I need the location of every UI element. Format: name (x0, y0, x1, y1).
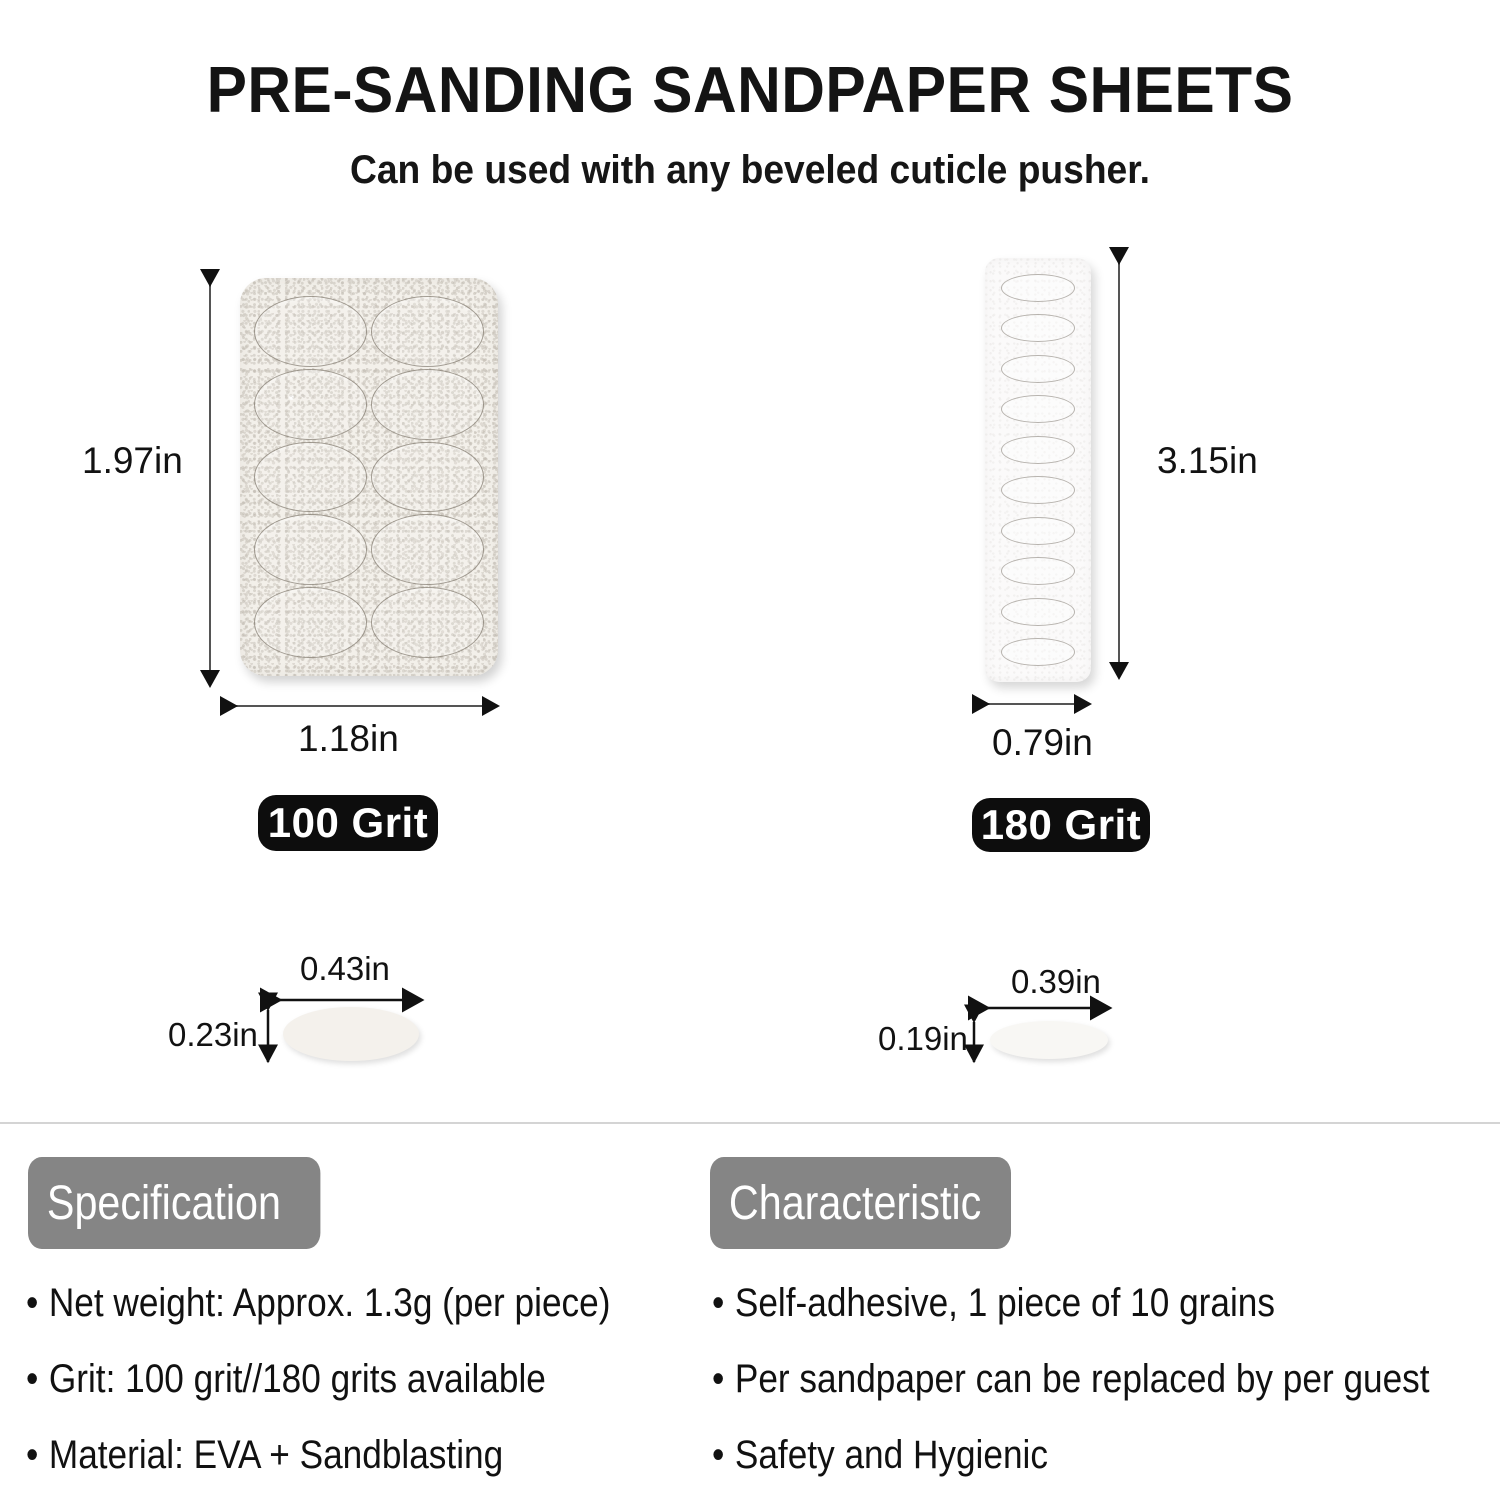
bullet-icon: • (26, 1359, 49, 1399)
list-item: •Grit: 100 grit//180 grits available (26, 1359, 624, 1399)
oval-cutout (1001, 355, 1075, 383)
detail-height-label-180: 0.19in (878, 1020, 968, 1058)
single-oval-detail-180 (990, 1021, 1108, 1059)
list-item-text: Self-adhesive, 1 piece of 10 grains (735, 1281, 1275, 1325)
detail-width-label-100: 0.43in (300, 950, 390, 988)
page-title: PRE-SANDING SANDPAPER SHEETS (53, 52, 1448, 127)
section-divider (0, 1122, 1500, 1124)
oval-grid-180-grit (985, 258, 1091, 682)
oval-cutout (371, 442, 484, 513)
list-item: •Net weight: Approx. 1.3g (per piece) (26, 1283, 624, 1323)
oval-cutout (1001, 314, 1075, 342)
dimension-label-width-100: 1.18in (298, 718, 399, 760)
list-item-text: Safety and Hygienic (735, 1433, 1048, 1477)
bullet-icon: • (712, 1283, 735, 1323)
single-oval-detail-100 (283, 1007, 419, 1061)
list-item: •Safety and Hygienic (712, 1435, 1407, 1475)
oval-cutout (1001, 274, 1075, 302)
dimension-arrows (0, 0, 1500, 1500)
product-sheet-100-grit (240, 278, 498, 676)
section-heading-label: Specification (47, 1176, 281, 1231)
list-item-text: Net weight: Approx. 1.3g (per piece) (49, 1281, 611, 1325)
oval-cutout (1001, 557, 1075, 585)
bullet-icon: • (712, 1359, 735, 1399)
oval-cutout (1001, 638, 1075, 666)
bullet-icon: • (26, 1283, 49, 1323)
dimension-label-height-100: 1.97in (82, 440, 183, 482)
section-heading-characteristic: Characteristic (710, 1157, 1011, 1249)
dimension-label-width-180: 0.79in (992, 722, 1093, 764)
oval-cutout (254, 442, 367, 513)
oval-cutout (254, 369, 367, 440)
oval-cutout (1001, 598, 1075, 626)
oval-cutout (371, 587, 484, 658)
bullet-icon: • (712, 1435, 735, 1475)
grit-badge-100: 100 Grit (258, 795, 438, 851)
list-item: •Material: EVA + Sandblasting (26, 1435, 624, 1475)
section-heading-label: Characteristic (729, 1176, 981, 1231)
bullet-icon: • (26, 1435, 49, 1475)
list-item: •Per sandpaper can be replaced by per gu… (712, 1359, 1407, 1399)
infographic-page: PRE-SANDING SANDPAPER SHEETS Can be used… (0, 0, 1500, 1500)
detail-width-label-180: 0.39in (1011, 963, 1101, 1001)
oval-cutout (254, 296, 367, 367)
oval-cutout (254, 587, 367, 658)
list-item-text: Material: EVA + Sandblasting (49, 1433, 503, 1477)
section-heading-specification: Specification (28, 1157, 320, 1249)
oval-cutout (1001, 395, 1075, 423)
product-sheet-180-grit (985, 258, 1091, 682)
list-item: •Self-adhesive, 1 piece of 10 grains (712, 1283, 1407, 1323)
dimension-label-height-180: 3.15in (1157, 440, 1258, 482)
oval-cutout (254, 514, 367, 585)
detail-height-label-100: 0.23in (168, 1016, 258, 1054)
oval-cutout (371, 296, 484, 367)
oval-grid-100-grit (240, 278, 498, 676)
oval-cutout (1001, 517, 1075, 545)
list-item-text: Per sandpaper can be replaced by per gue… (735, 1357, 1430, 1401)
oval-cutout (371, 514, 484, 585)
page-subtitle: Can be used with any beveled cuticle pus… (53, 148, 1448, 193)
oval-cutout (371, 369, 484, 440)
specification-list: •Net weight: Approx. 1.3g (per piece) •G… (26, 1283, 706, 1511)
characteristic-list: •Self-adhesive, 1 piece of 10 grains •Pe… (712, 1283, 1500, 1511)
oval-cutout (1001, 476, 1075, 504)
grit-badge-180: 180 Grit (972, 798, 1150, 852)
oval-cutout (1001, 436, 1075, 464)
list-item-text: Grit: 100 grit//180 grits available (49, 1357, 546, 1401)
